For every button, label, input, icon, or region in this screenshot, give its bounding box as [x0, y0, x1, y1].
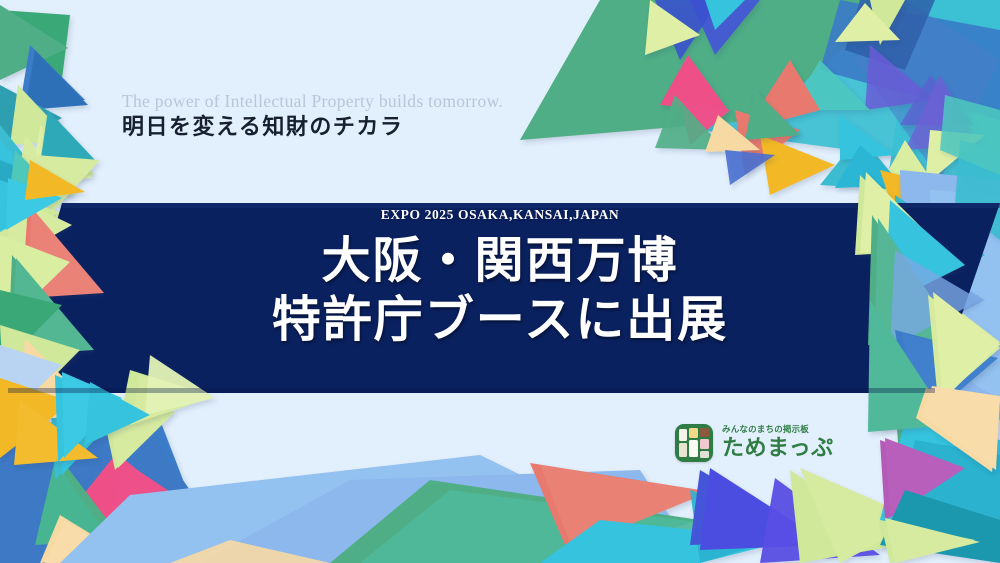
logo-tile-4	[700, 428, 709, 437]
logo-tile-1	[679, 443, 687, 457]
logo-subtitle: みんなのまちの掲示板	[722, 426, 834, 435]
tagline-japanese: 明日を変える知財のチカラ	[122, 115, 503, 140]
headline-line-1: 大阪・関西万博	[120, 231, 880, 291]
logo-tile-0	[679, 429, 687, 441]
expo-2025-promo-poster: The power of Intellectual Property build…	[0, 0, 1000, 563]
tagline-english: The power of Intellectual Property build…	[122, 92, 503, 111]
tamemap-logo-lockup[interactable]: みんなのまちの掲示板 ためまっぷ	[675, 424, 834, 462]
tamemap-grid-icon	[675, 424, 713, 462]
expo-eyebrow-label: EXPO 2025 OSAKA,KANSAI,JAPAN	[120, 208, 880, 222]
headline-line-2: 特許庁ブースに出展	[120, 290, 880, 350]
logo-tile-3	[689, 440, 698, 457]
logo-name: ためまっぷ	[722, 438, 834, 460]
banner-text-block: EXPO 2025 OSAKA,KANSAI,JAPAN 大阪・関西万博 特許庁…	[120, 208, 880, 350]
logo-tile-2	[689, 428, 698, 438]
logo-tile-5	[700, 439, 709, 449]
tagline-block: The power of Intellectual Property build…	[122, 92, 503, 141]
logo-wordmark: みんなのまちの掲示板 ためまっぷ	[722, 426, 834, 460]
logo-tile-6	[700, 451, 709, 458]
